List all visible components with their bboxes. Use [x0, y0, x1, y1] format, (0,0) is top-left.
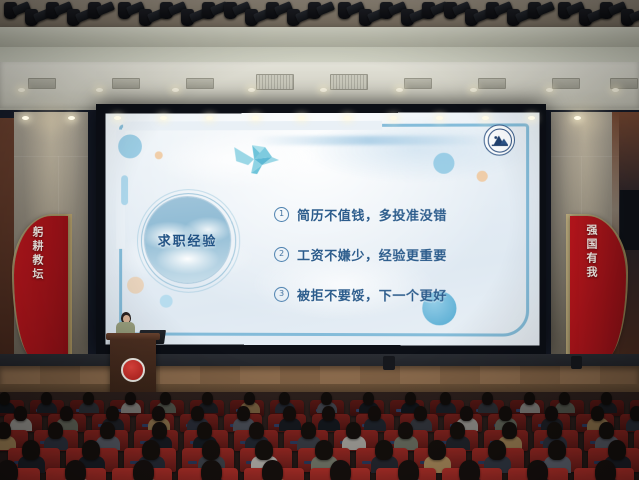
audience-member-head [191, 406, 204, 421]
audience-member-head [315, 440, 333, 460]
audience-member-head [591, 406, 604, 421]
deco-bar-left [121, 175, 128, 205]
screen-wash-light-icon [68, 116, 75, 120]
audience-member-head [41, 392, 52, 405]
ceiling-vent-icon [186, 78, 214, 89]
ceiling-vent-icon [478, 78, 506, 89]
audience-member-head [202, 392, 213, 405]
podium-university-seal-icon [121, 358, 145, 382]
ceiling-vent-icon [28, 78, 56, 89]
audience-member-head [330, 460, 351, 480]
ceiling-downlight-icon [470, 88, 477, 92]
audience-member-head [460, 406, 473, 421]
audience-member-head [152, 406, 165, 421]
podium [110, 338, 156, 394]
audience-seating [0, 392, 639, 480]
bullet-text: 工资不嫌少，经验更重要 [297, 245, 447, 264]
screen-wash-light-icon [206, 116, 213, 120]
audience-member-head [83, 392, 94, 405]
ceiling-downlight-icon [96, 88, 103, 92]
audience-member-head [499, 406, 512, 421]
right-slogan-banner: 强国有我 [552, 200, 636, 358]
audience-member-head [601, 392, 612, 405]
screen-wash-light-icon [390, 116, 397, 120]
audience-member-head [398, 460, 419, 480]
audience-member-head [0, 422, 11, 439]
audience-member-head [502, 422, 517, 439]
deco-dot-orange-topright [477, 171, 488, 182]
audience-member-head [630, 406, 639, 421]
audience-member-head [22, 440, 40, 460]
audience-member-head [0, 460, 18, 480]
deco-dot-orange-topleft [155, 151, 163, 159]
bullet-number-icon: 1 [274, 207, 289, 222]
audience-member-head [237, 406, 250, 421]
audience-member-head [82, 440, 100, 460]
audience-member-head [106, 406, 119, 421]
projection-screen: 求职经验 1简历不值钱，多投准没错2工资不嫌少，经验更重要3被拒不要馁，下一个更… [105, 112, 539, 345]
audience-member-head [428, 440, 446, 460]
audience-member-head [14, 406, 27, 421]
right-wall-downlight-glow [556, 104, 612, 134]
screen-wash-light-icon [252, 116, 259, 120]
left-slogan-banner: 躬耕教坛 [10, 200, 90, 358]
audience-member-head [405, 392, 416, 405]
audience-member-head [414, 406, 427, 421]
slide-bullet-row: 3被拒不要馁，下一个更好 [274, 285, 447, 304]
deco-circle-orange-bottomleft [127, 277, 144, 294]
audience-member-head [547, 422, 562, 439]
audience-member-head [548, 440, 566, 460]
screen-wash-light-icon [528, 116, 535, 120]
bullet-text: 简历不值钱，多投准没错 [297, 205, 447, 224]
audience-member-head [255, 440, 273, 460]
audience-member-head [346, 422, 361, 439]
audience-member-head [322, 406, 335, 421]
audience-member-head [301, 422, 316, 439]
audience-member-head [249, 422, 264, 439]
lighting-truss [0, 0, 639, 30]
ceiling-panel [0, 62, 639, 110]
audience-member-head [559, 392, 570, 405]
ceiling-beam [0, 27, 639, 49]
screen-wash-light-icon [574, 116, 581, 120]
audience-member-head [125, 392, 136, 405]
audience-member-head [363, 392, 374, 405]
audience-member-head [368, 406, 381, 421]
origami-bird-icon [232, 143, 280, 179]
ceiling-downlight-icon [396, 88, 403, 92]
bullet-number-icon: 2 [274, 247, 289, 262]
slide-bullet-row: 2工资不嫌少，经验更重要 [274, 245, 447, 264]
audience-member-head [524, 392, 535, 405]
bullet-text: 被拒不要馁，下一个更好 [297, 285, 447, 304]
university-emblem-icon [484, 124, 515, 155]
seat-number-plate [362, 461, 371, 464]
audience-member-head [321, 392, 332, 405]
audience-member-head [0, 392, 10, 405]
deco-circle-blue-topleft [118, 134, 142, 158]
audience-member-head [488, 440, 506, 460]
left-banner-text: 躬耕教坛 [30, 226, 45, 338]
stage-monitor-speaker [383, 356, 395, 370]
audience-member-head [262, 460, 283, 480]
audience-member-head [244, 392, 255, 405]
audience-member-head [60, 406, 73, 421]
seat-number-plate [188, 461, 197, 464]
screen-wash-light-icon [298, 116, 305, 120]
podium-top-surface [106, 333, 160, 340]
audience-member-head [527, 460, 548, 480]
ceiling-downlight-icon [546, 88, 553, 92]
screen-wash-light-icon [482, 116, 489, 120]
ceiling-downlight-icon [18, 88, 25, 92]
audience-member-head [482, 392, 493, 405]
screen-wash-light-icon [344, 116, 351, 120]
ceiling-vent-icon [256, 74, 294, 90]
audience-member-head [545, 406, 558, 421]
audience-member-head [48, 422, 63, 439]
audience-member-head [65, 460, 86, 480]
right-banner-text: 强国有我 [584, 224, 599, 336]
audience-member-head [279, 392, 290, 405]
screen-wash-light-icon [22, 116, 29, 120]
audience-member-head [595, 460, 616, 480]
audience-member-head [440, 392, 451, 405]
screen-wash-light-icon [160, 116, 167, 120]
audience-member-head [100, 422, 115, 439]
bullet-number-icon: 3 [274, 287, 289, 302]
audience-member-head [283, 406, 296, 421]
slide-frame-gap-top [123, 121, 382, 131]
audience-member-head [160, 392, 171, 405]
audience-member-head [202, 440, 220, 460]
audience-member-head [450, 422, 465, 439]
ceiling-downlight-icon [612, 88, 619, 92]
audience-member-head [375, 440, 393, 460]
screen-wash-light-icon [114, 116, 121, 120]
audience-member-head [142, 440, 160, 460]
auditorium-scene: 躬耕教坛 强国有我 [0, 0, 639, 480]
screen-wash-light-icon [436, 116, 443, 120]
deco-circle-blue-topright [433, 153, 454, 174]
audience-member-head [459, 460, 480, 480]
ceiling-vent-icon [404, 78, 432, 89]
badge-outer-ring-2 [137, 189, 240, 293]
slide-bullet-list: 1简历不值钱，多投准没错2工资不嫌少，经验更重要3被拒不要馁，下一个更好 [274, 205, 447, 325]
slide-bullet-row: 1简历不值钱，多投准没错 [274, 205, 447, 224]
ceiling-vent-icon [552, 78, 580, 89]
deco-dot-blue-bottomleft [160, 295, 173, 308]
audience-member-head [197, 422, 212, 439]
ceiling-downlight-icon [248, 88, 255, 92]
audience-member-head [152, 422, 167, 439]
audience-member-head [133, 460, 154, 480]
ceiling-downlight-icon [172, 88, 179, 92]
audience-member-head [398, 422, 413, 439]
audience-member-head [599, 422, 614, 439]
ceiling-vent-icon [112, 78, 140, 89]
audience-member-head [608, 440, 626, 460]
ceiling-downlight-icon [320, 88, 327, 92]
ceiling-vent-icon [330, 74, 368, 90]
audience-member-head [201, 460, 222, 480]
stage-monitor-speaker-right [571, 356, 582, 369]
